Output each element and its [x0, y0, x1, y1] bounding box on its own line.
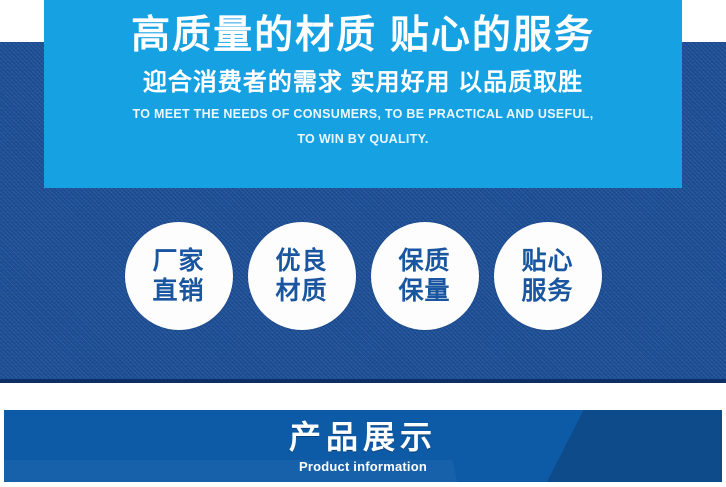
hero-subtitle: 迎合消费者的需求 实用好用 以品质取胜 [44, 59, 682, 98]
hero-english-line-2: TO WIN BY QUALITY. [44, 123, 682, 148]
feature-badge-manufacturer-direct: 厂家 直销 [125, 222, 233, 330]
feature-badge-attentive-service: 贴心 服务 [494, 222, 602, 330]
product-section-banner: 产品展示 Product information [4, 410, 722, 482]
badge-line-2: 直销 [152, 276, 204, 306]
promo-banner-page: 高质量的材质 贴心的服务 迎合消费者的需求 实用好用 以品质取胜 TO MEET… [0, 0, 726, 487]
banner-subtitle: Product information [4, 456, 722, 475]
feature-badge-guaranteed-quality: 保质 保量 [371, 222, 479, 330]
badge-line-1: 厂家 [152, 246, 204, 276]
badge-line-1: 优良 [275, 246, 327, 276]
hero-english-line-1: TO MEET THE NEEDS OF CONSUMERS, TO BE PR… [44, 98, 682, 123]
hero-title: 高质量的材质 贴心的服务 [44, 0, 682, 59]
badge-line-2: 材质 [275, 276, 327, 306]
badge-line-1: 贴心 [521, 246, 573, 276]
feature-badge-quality-material: 优良 材质 [248, 222, 356, 330]
feature-badge-row: 厂家 直销 优良 材质 保质 保量 贴心 服务 [0, 218, 726, 333]
badge-line-2: 服务 [521, 276, 573, 306]
badge-line-2: 保量 [398, 276, 450, 306]
hero-panel: 高质量的材质 贴心的服务 迎合消费者的需求 实用好用 以品质取胜 TO MEET… [44, 0, 682, 188]
badge-line-1: 保质 [398, 246, 450, 276]
banner-title: 产品展示 [4, 410, 722, 456]
